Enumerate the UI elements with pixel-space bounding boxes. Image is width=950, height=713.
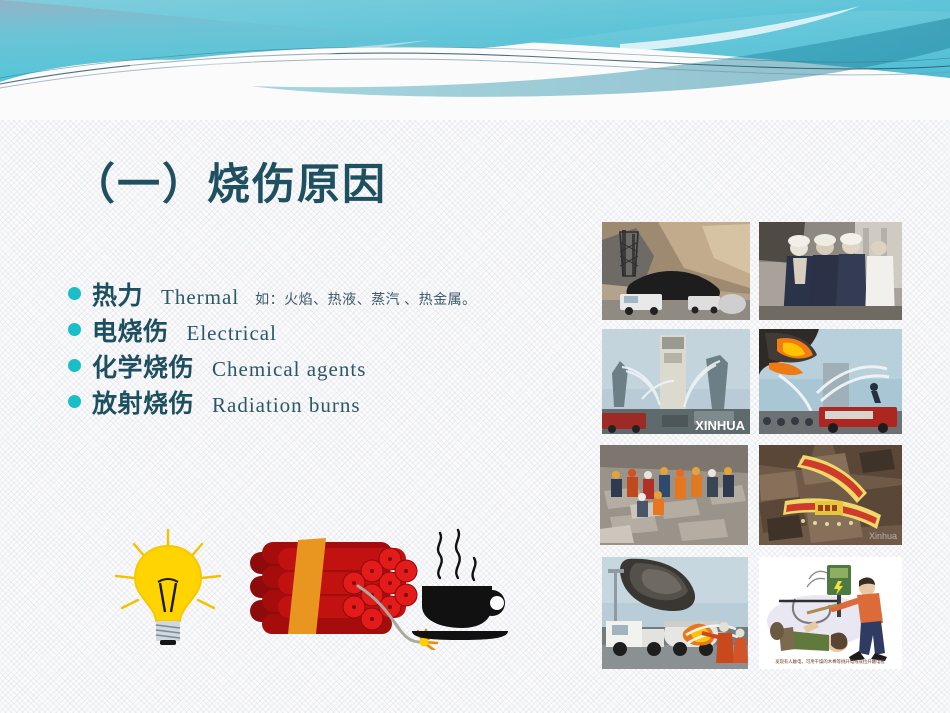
list-item-label-en: Thermal bbox=[161, 285, 239, 310]
photo-tanker-truck-fire bbox=[602, 557, 748, 669]
list-item: 热力 Thermal 如：火焰、热液、蒸汽 、热金属。 bbox=[68, 276, 608, 312]
photo-rescued-miners bbox=[759, 222, 902, 320]
photo-oil-tank-fire bbox=[759, 329, 902, 434]
list-item-label-cn: 化学烧伤 bbox=[92, 348, 194, 384]
photo-mine-collapse bbox=[602, 222, 750, 320]
list-item-label-en: Chemical agents bbox=[212, 357, 366, 382]
light-bulb-icon bbox=[108, 526, 228, 646]
svg-text:XINHUA: XINHUA bbox=[695, 418, 745, 433]
page-title: （一）烧伤原因 bbox=[72, 150, 387, 212]
list-item-label-en: Electrical bbox=[187, 321, 277, 346]
bullet-dot-icon bbox=[68, 359, 81, 372]
clipart-row bbox=[100, 520, 530, 650]
bullet-dot-icon bbox=[68, 395, 81, 408]
hot-coffee-cup-icon bbox=[400, 528, 520, 643]
bullet-dot-icon bbox=[68, 323, 81, 336]
list-item: 化学烧伤 Chemical agents bbox=[68, 348, 608, 384]
svg-text:Xinhua: Xinhua bbox=[869, 531, 897, 541]
photo-building-collapse bbox=[600, 445, 748, 545]
photo-electric-shock-aid: 发现有人触电，可用干燥的木棒等挑开电线或拉开触电者 bbox=[759, 557, 902, 669]
list-item-note: 如：火焰、热液、蒸汽 、热金属。 bbox=[255, 289, 477, 309]
photo-factory-fire-spray: XINHUA bbox=[602, 329, 750, 434]
bullet-dot-icon bbox=[68, 287, 81, 300]
list-item-label-cn: 电烧伤 bbox=[92, 312, 169, 348]
burn-causes-list: 热力 Thermal 如：火焰、热液、蒸汽 、热金属。 电烧伤 Electric… bbox=[68, 276, 608, 420]
list-item-label-cn: 放射烧伤 bbox=[92, 384, 194, 420]
photo-debris-banner: Xinhua bbox=[759, 445, 902, 545]
presentation-slide: （一）烧伤原因 热力 Thermal 如：火焰、热液、蒸汽 、热金属。 电烧伤 … bbox=[0, 0, 950, 713]
list-item: 放射烧伤 Radiation burns bbox=[68, 384, 608, 420]
cartoon-caption: 发现有人触电，可用干燥的木棒等挑开电线或拉开触电者 bbox=[775, 658, 885, 665]
list-item: 电烧伤 Electrical bbox=[68, 312, 608, 348]
list-item-label-en: Radiation burns bbox=[212, 393, 361, 418]
photo-grid: XINHUA bbox=[600, 220, 905, 680]
list-item-label-cn: 热力 bbox=[92, 276, 143, 312]
